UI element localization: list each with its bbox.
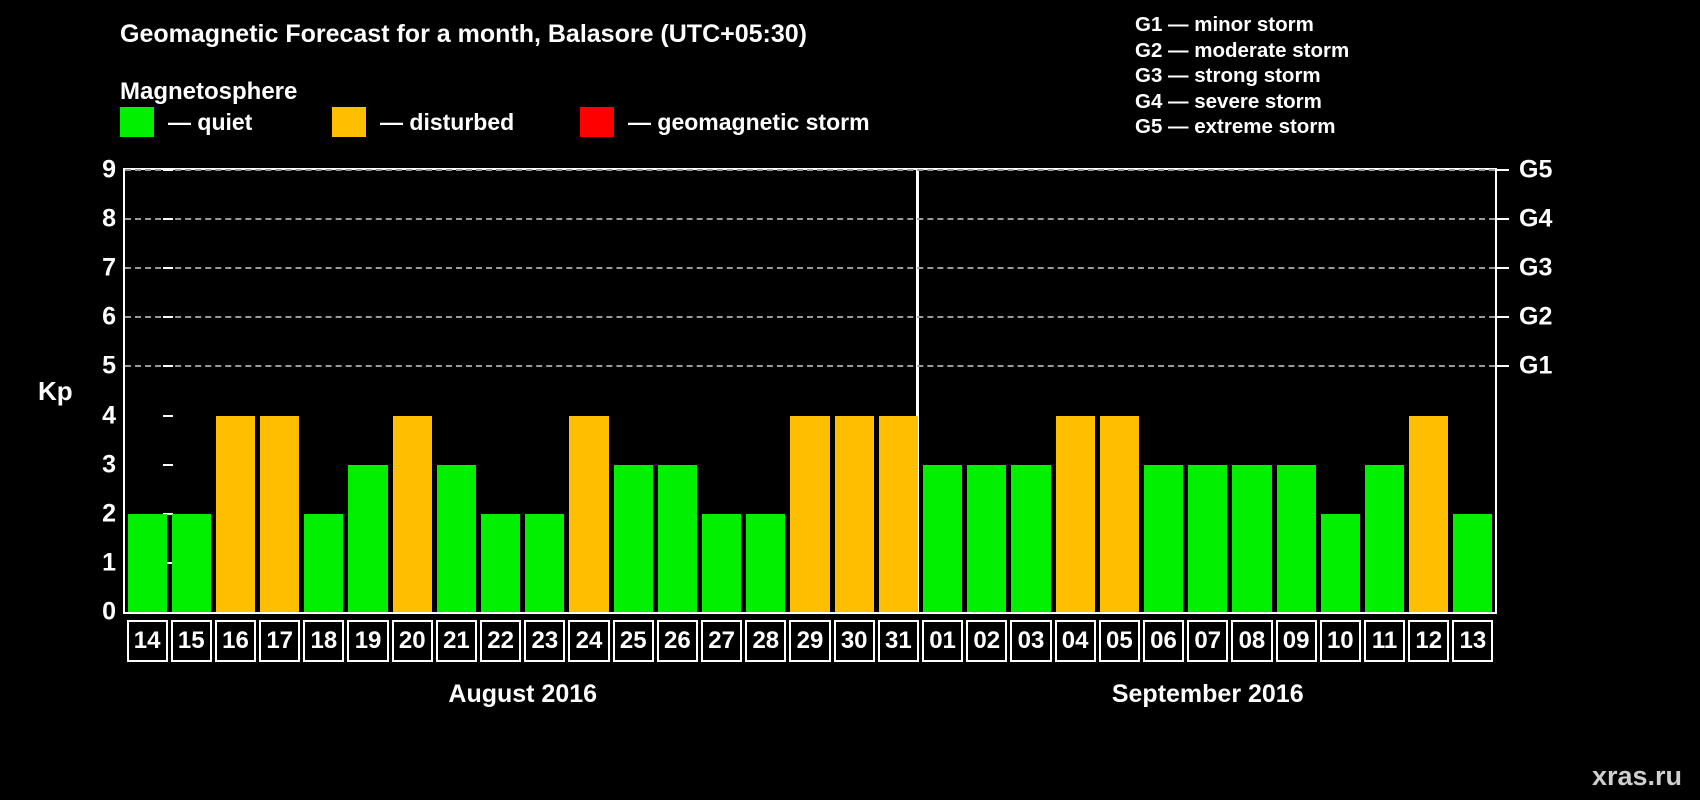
month-caption-2: September 2016 — [1008, 680, 1408, 709]
bar-20 — [393, 416, 432, 612]
legend-entry-geomagnetic-storm: — geomagnetic storm — [580, 107, 870, 137]
date-label-21: 21 — [436, 620, 477, 662]
date-label-14: 14 — [127, 620, 168, 662]
date-label-08: 08 — [1231, 620, 1272, 662]
date-label-18: 18 — [303, 620, 344, 662]
y-axis-ticks: 0123456789 — [48, 0, 116, 800]
date-label-10: 10 — [1320, 620, 1361, 662]
legend-swatch-disturbed — [332, 107, 366, 137]
date-label-05: 05 — [1099, 620, 1140, 662]
bar-08 — [1232, 465, 1271, 612]
y-tick-label-5: 5 — [76, 352, 116, 381]
bar-09 — [1277, 465, 1316, 612]
y-tick-label-4: 4 — [76, 401, 116, 430]
bar-19 — [348, 465, 387, 612]
g-tick-label-G1: G1 — [1519, 352, 1552, 381]
bar-10 — [1321, 514, 1360, 612]
date-label-20: 20 — [392, 620, 433, 662]
bar-22 — [481, 514, 520, 612]
date-label-25: 25 — [613, 620, 654, 662]
legend-entry-disturbed: — disturbed — [332, 107, 514, 137]
g-scale-legend: G1 — minor stormG2 — moderate stormG3 — … — [1135, 12, 1349, 140]
g-tick-mark-G1 — [1497, 365, 1509, 367]
g-tick-mark-G3 — [1497, 267, 1509, 269]
bars-layer — [125, 170, 1495, 612]
bar-29 — [790, 416, 829, 612]
g-tick-label-G4: G4 — [1519, 205, 1552, 234]
bar-05 — [1100, 416, 1139, 612]
date-label-26: 26 — [657, 620, 698, 662]
legend-swatch-geomagnetic-storm — [580, 107, 614, 137]
y-tick-label-8: 8 — [76, 205, 116, 234]
legend-swatch-quiet — [120, 107, 154, 137]
date-label-30: 30 — [834, 620, 875, 662]
date-label-24: 24 — [568, 620, 609, 662]
date-label-22: 22 — [480, 620, 521, 662]
bar-07 — [1188, 465, 1227, 612]
g-tick-mark-G5 — [1497, 169, 1509, 171]
g-tick-mark-G2 — [1497, 316, 1509, 318]
date-label-15: 15 — [171, 620, 212, 662]
bar-03 — [1011, 465, 1050, 612]
date-label-27: 27 — [701, 620, 742, 662]
legend-label-quiet: — quiet — [168, 109, 252, 136]
bar-04 — [1056, 416, 1095, 612]
bar-23 — [525, 514, 564, 612]
bar-26 — [658, 465, 697, 612]
bar-11 — [1365, 465, 1404, 612]
bar-06 — [1144, 465, 1183, 612]
bar-21 — [437, 465, 476, 612]
g-tick-mark-G4 — [1497, 218, 1509, 220]
bar-25 — [614, 465, 653, 612]
bar-17 — [260, 416, 299, 612]
date-label-11: 11 — [1364, 620, 1405, 662]
date-label-29: 29 — [789, 620, 830, 662]
date-label-31: 31 — [878, 620, 919, 662]
bar-02 — [967, 465, 1006, 612]
g-scale-row-3: G3 — strong storm — [1135, 63, 1349, 89]
g-tick-label-G5: G5 — [1519, 156, 1552, 185]
bar-31 — [879, 416, 918, 612]
bar-01 — [923, 465, 962, 612]
bar-30 — [835, 416, 874, 612]
bar-27 — [702, 514, 741, 612]
g-tick-label-G3: G3 — [1519, 254, 1552, 283]
date-label-12: 12 — [1408, 620, 1449, 662]
date-label-03: 03 — [1010, 620, 1051, 662]
date-label-02: 02 — [966, 620, 1007, 662]
date-label-28: 28 — [745, 620, 786, 662]
page-title: Geomagnetic Forecast for a month, Balaso… — [120, 20, 807, 49]
g-scale-row-4: G4 — severe storm — [1135, 89, 1349, 115]
y-tick-label-9: 9 — [76, 156, 116, 185]
date-label-17: 17 — [259, 620, 300, 662]
g-tick-label-G2: G2 — [1519, 303, 1552, 332]
y-tick-label-3: 3 — [76, 450, 116, 479]
bar-14 — [128, 514, 167, 612]
date-label-01: 01 — [922, 620, 963, 662]
date-label-09: 09 — [1276, 620, 1317, 662]
legend-heading: Magnetosphere — [120, 78, 297, 106]
g-scale-axis-ticks: G1G2G3G4G5 — [1497, 0, 1687, 800]
bar-12 — [1409, 416, 1448, 612]
bar-28 — [746, 514, 785, 612]
date-axis: 1415161718192021222324252627282930310102… — [125, 620, 1495, 662]
date-label-23: 23 — [524, 620, 565, 662]
g-scale-row-1: G1 — minor storm — [1135, 12, 1349, 38]
watermark: xras.ru — [1592, 761, 1682, 792]
bar-16 — [216, 416, 255, 612]
date-label-19: 19 — [347, 620, 388, 662]
legend-label-disturbed: — disturbed — [380, 109, 514, 136]
date-label-16: 16 — [215, 620, 256, 662]
date-label-13: 13 — [1452, 620, 1493, 662]
bar-18 — [304, 514, 343, 612]
date-label-06: 06 — [1143, 620, 1184, 662]
legend-label-geomagnetic-storm: — geomagnetic storm — [628, 109, 870, 136]
y-tick-label-7: 7 — [76, 254, 116, 283]
month-caption-1: August 2016 — [323, 680, 723, 709]
bar-15 — [172, 514, 211, 612]
g-scale-row-5: G5 — extreme storm — [1135, 114, 1349, 140]
g-scale-row-2: G2 — moderate storm — [1135, 38, 1349, 64]
bar-13 — [1453, 514, 1492, 612]
date-label-04: 04 — [1055, 620, 1096, 662]
y-tick-label-1: 1 — [76, 548, 116, 577]
y-tick-label-0: 0 — [76, 598, 116, 627]
y-tick-label-2: 2 — [76, 499, 116, 528]
y-tick-label-6: 6 — [76, 303, 116, 332]
legend-entry-quiet: — quiet — [120, 107, 252, 137]
bar-24 — [569, 416, 608, 612]
date-label-07: 07 — [1187, 620, 1228, 662]
